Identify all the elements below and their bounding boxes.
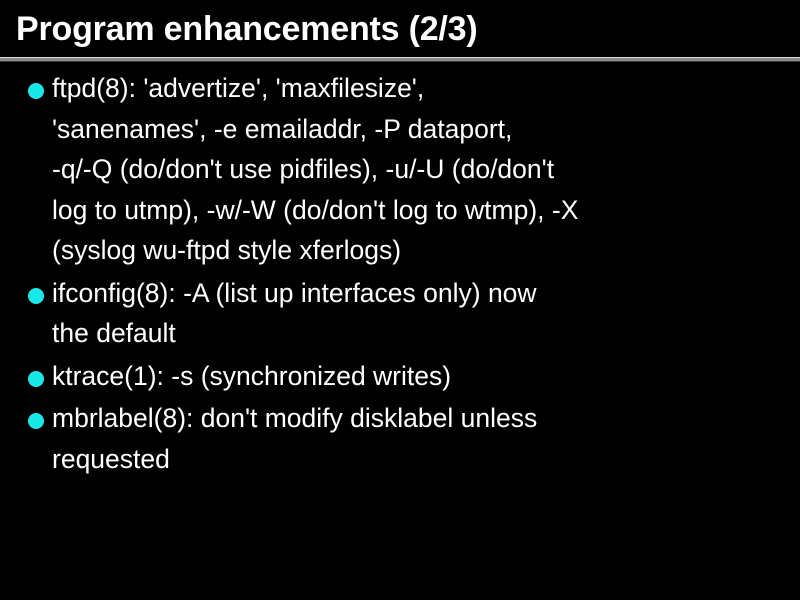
disc-bullet-icon [28, 371, 44, 387]
disc-bullet-icon [28, 83, 44, 99]
title-divider [0, 57, 800, 62]
slide-body: ftpd(8): 'advertize', 'maxfilesize', 'sa… [0, 68, 800, 481]
list-item: ktrace(1): -s (synchronized writes) [0, 356, 800, 397]
page-title: Program enhancements (2/3) [16, 9, 478, 49]
disc-bullet-icon [28, 413, 44, 429]
list-item: ftpd(8): 'advertize', 'maxfilesize', 'sa… [0, 68, 800, 271]
divider-shadow [0, 61, 800, 62]
list-item-text: ktrace(1): -s (synchronized writes) [52, 356, 800, 397]
list-item-text: ifconfig(8): -A (list up interfaces only… [52, 273, 800, 354]
list-item-text: ftpd(8): 'advertize', 'maxfilesize', 'sa… [52, 68, 800, 271]
list-item-text: mbrlabel(8): don't modify disklabel unle… [52, 398, 800, 479]
list-item: mbrlabel(8): don't modify disklabel unle… [0, 398, 800, 479]
disc-bullet-icon [28, 288, 44, 304]
slide-title-area: Program enhancements (2/3) [0, 0, 800, 57]
slide: Program enhancements (2/3) ftpd(8): 'adv… [0, 0, 800, 600]
list-item: ifconfig(8): -A (list up interfaces only… [0, 273, 800, 354]
